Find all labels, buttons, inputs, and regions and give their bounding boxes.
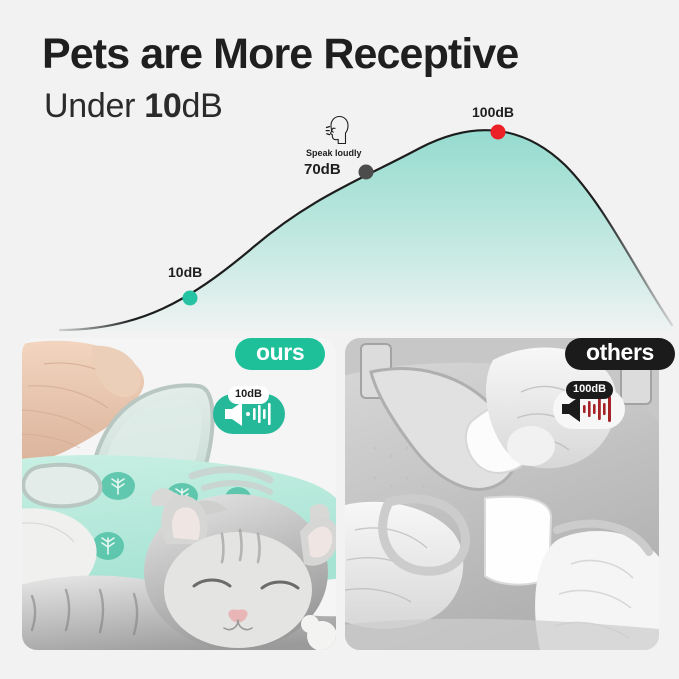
- db-tag-others: 100dB: [566, 381, 613, 399]
- page-subtitle: Under 10dB: [44, 87, 222, 126]
- data-label-70db: 70dB: [304, 161, 341, 178]
- db-tag-ours: 10dB: [228, 386, 269, 404]
- subtitle-bold-value: 10: [144, 87, 181, 125]
- data-point-70db: [359, 165, 374, 180]
- subtitle-suffix: dB: [181, 87, 222, 125]
- photo-ours: [22, 338, 336, 650]
- photo-ours-illustration: [22, 338, 336, 650]
- data-point-10db: [183, 291, 198, 306]
- speak-loudly-caption: Speak loudly: [306, 148, 362, 158]
- data-label-10db: 10dB: [168, 264, 202, 280]
- badge-ours: ours: [235, 338, 325, 370]
- subtitle-prefix: Under: [44, 87, 144, 125]
- header: Pets are More Receptive Under 10dB: [0, 0, 679, 140]
- chart-area-fill: [60, 130, 672, 332]
- badge-others: others: [565, 338, 675, 370]
- page-title: Pets are More Receptive: [42, 30, 518, 79]
